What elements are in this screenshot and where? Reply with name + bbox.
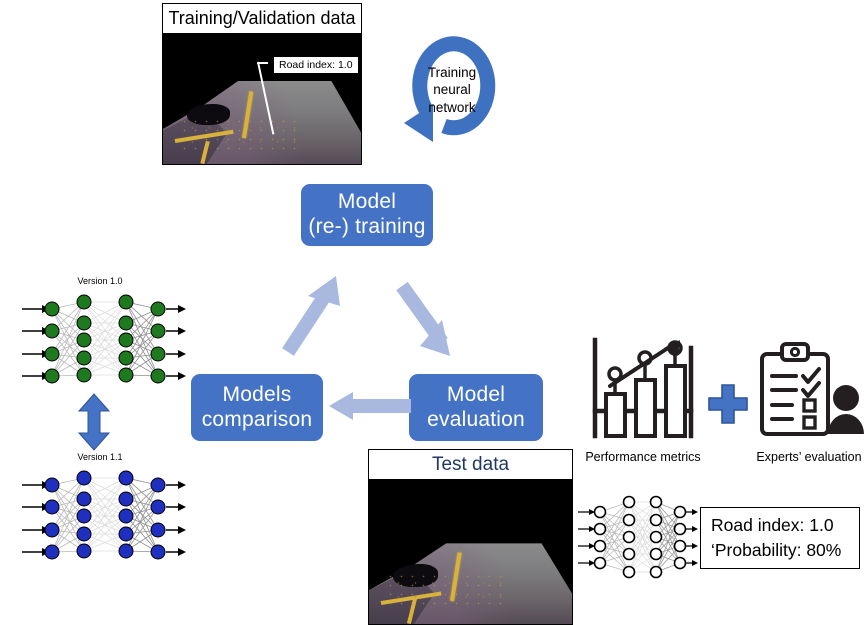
model-evaluation-line1: Model [427,383,525,408]
cycle-label-line3: network [428,99,475,116]
clipboard-person-icon [756,342,864,444]
experts-evaluation-icon [756,342,864,444]
neural-network-version-1-0: Version 1.0 [14,276,186,398]
plus-icon [706,382,750,426]
inference-neural-network [576,484,698,590]
training-data-title: Training/Validation data [163,4,361,34]
test-gravel-specks [385,572,507,609]
performance-metrics-icon [588,336,698,444]
neural-network-version-1-1: Version 1.1 [14,452,186,574]
test-data-panel: Test data [368,449,573,625]
test-road-image [369,480,572,624]
model-retraining-line1: Model [308,190,425,215]
models-comparison-line1: Models [202,383,313,408]
model-evaluation-line2: evaluation [427,408,525,433]
training-road-image: Road index: 1.0 [163,34,361,164]
training-cycle-label: Training neural network [388,30,504,150]
models-comparison-line2: comparison [202,408,313,433]
bar-chart-icon [588,336,698,444]
network-v11-graph [14,452,186,574]
result-road-index: Road index: 1.0 [711,513,849,538]
network-v10-graph [14,276,186,398]
training-cycle-icon: Training neural network [388,30,504,150]
test-data-title: Test data [369,450,572,480]
model-retraining-line2: (re-) training [308,215,425,240]
performance-metrics-caption: Performance metrics [578,450,708,464]
training-data-panel: Training/Validation data Road index: 1.0 [162,3,362,165]
cycle-label-line2: neural [433,81,471,98]
model-evaluation-box[interactable]: Model evaluation [409,374,543,441]
model-retraining-box[interactable]: Model (re-) training [301,184,433,246]
network-v10-label: Version 1.0 [14,276,186,286]
arrow-comparison-to-retraining [278,276,344,360]
experts-evaluation-caption: Experts’ evaluation [746,450,864,464]
inference-network-graph [576,484,698,590]
prediction-result-box: Road index: 1.0 ‘Probability: 80% [700,507,860,569]
arrow-evaluation-to-comparison [327,392,411,424]
network-v11-label: Version 1.1 [14,452,186,462]
version-compare-arrow [76,394,112,450]
road-gravel-specks [179,117,298,151]
models-comparison-box[interactable]: Models comparison [191,374,323,441]
cycle-label-line1: Training [428,64,476,81]
road-index-annotation: Road index: 1.0 [273,56,359,74]
arrow-retraining-to-evaluation [392,276,458,360]
result-probability: ‘Probability: 80% [711,538,849,563]
